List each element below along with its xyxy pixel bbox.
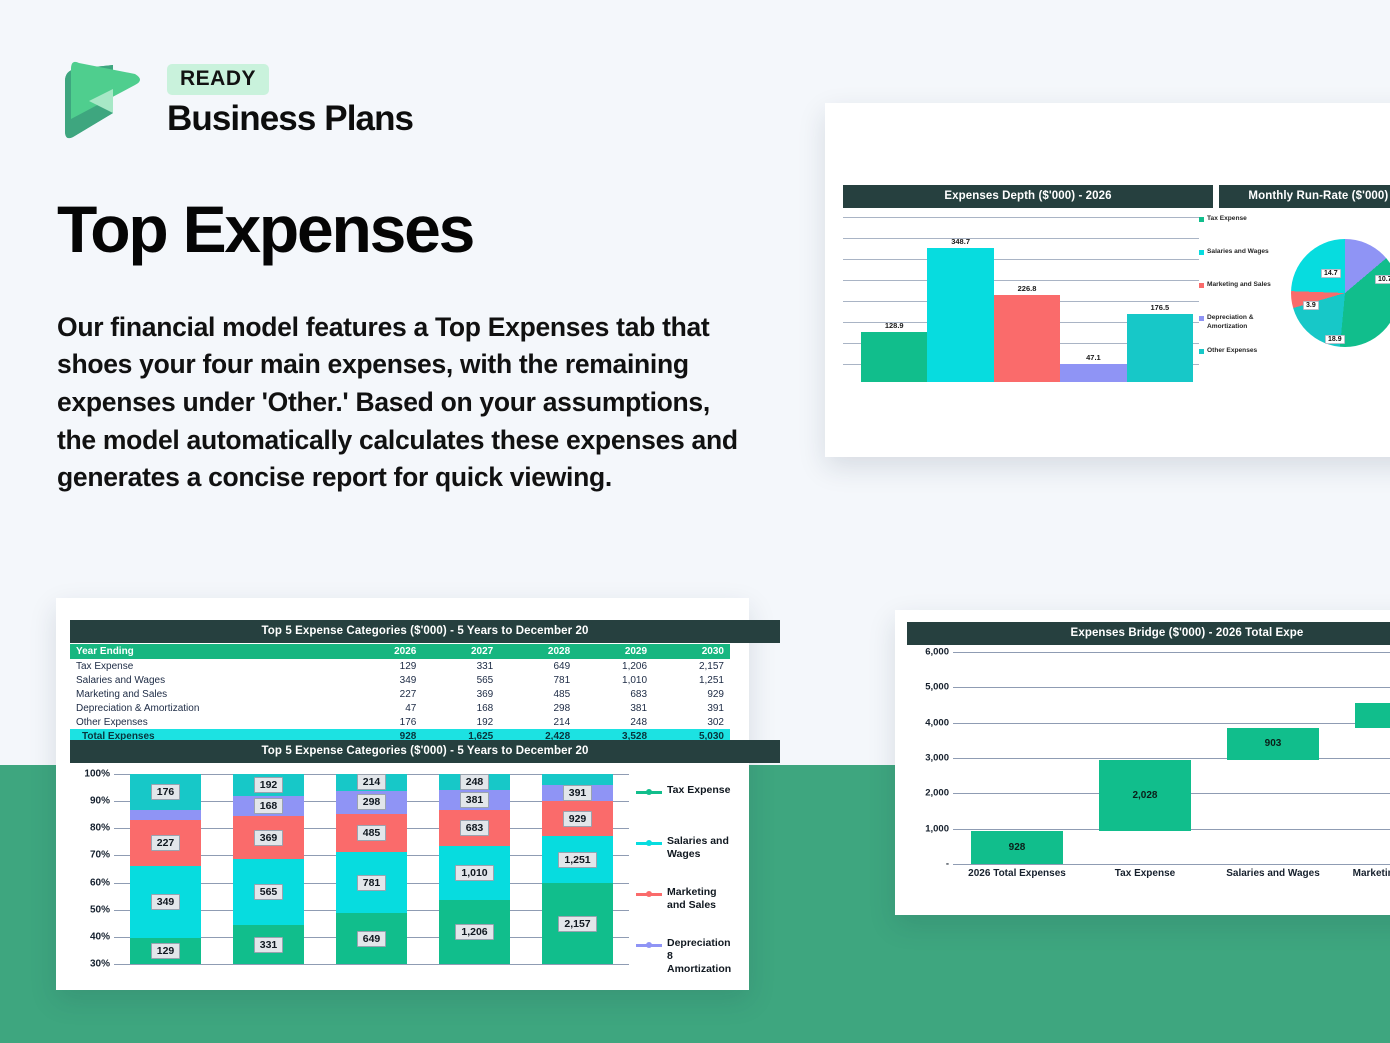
bar-fill: 47.1 — [1060, 364, 1126, 382]
brand-text: READY Business Plans — [167, 64, 413, 139]
bar-fill: 226.8 — [994, 295, 1060, 382]
legend-line-marker-icon — [636, 889, 662, 899]
segment-value-label: 227 — [151, 835, 181, 851]
stacked-segment: 192 — [233, 774, 304, 796]
bar-value-label: 128.9 — [861, 321, 927, 330]
axis-tick-label: 50% — [90, 904, 110, 915]
table-cell: 781 — [499, 673, 576, 687]
topright-charts: 128.9348.7226.847.1176.5 Tax ExpenseSala… — [843, 211, 1390, 386]
axis-tick-label: 100% — [84, 769, 110, 780]
legend-item: Tax Expense — [1199, 215, 1277, 248]
table-row: Marketing and Sales227369485683929 — [70, 687, 730, 701]
table-cell: 176 — [351, 715, 422, 729]
stacked-segment: 331 — [233, 925, 304, 964]
legend-label: Tax Expense — [1207, 215, 1247, 224]
legend-swatch-icon — [1199, 349, 1204, 354]
table-row: Salaries and Wages3495657811,0101,251 — [70, 673, 730, 687]
stacked-segment: 649 — [336, 913, 407, 964]
axis-tick-label: 6,000 — [925, 647, 949, 658]
legend-item: Depreciation & Amortization — [1199, 314, 1277, 347]
bar-value-label: 928 — [1009, 842, 1026, 853]
stacked-plot-area: 1762273491291921683695653312142984857816… — [114, 774, 629, 964]
legend-label: Depreciation & Amortization — [1207, 314, 1277, 332]
table-cell: 381 — [576, 701, 653, 715]
gridline — [114, 964, 629, 965]
stacked-segment — [130, 810, 201, 820]
bar-value-label: 903 — [1265, 738, 1282, 749]
bar-fill: 128.9 — [861, 332, 927, 382]
table-cell: 168 — [422, 701, 499, 715]
axis-tick-label: 70% — [90, 850, 110, 861]
segment-value-label: 176 — [151, 784, 181, 800]
table-cell: 302 — [653, 715, 730, 729]
table-cell: 298 — [499, 701, 576, 715]
stacked-bar-chart: 100%90%80%70%60%50%40%30% 17622734912919… — [70, 768, 735, 973]
bar-column: 226.8 — [994, 295, 1060, 382]
segment-value-label: 369 — [254, 830, 284, 846]
stacked-segment: 168 — [233, 796, 304, 816]
segment-value-label: 349 — [151, 894, 181, 910]
table-body: Tax Expense1293316491,2062,157Salaries a… — [70, 659, 730, 743]
stacked-y-axis: 100%90%80%70%60%50%40%30% — [70, 774, 110, 964]
bar-column: 348.7 — [927, 248, 993, 382]
table-col-header: 2028 — [499, 644, 576, 659]
table-header-row: Year Ending20262027202820292030 — [70, 644, 730, 659]
play-triangle-logo-icon — [57, 55, 149, 147]
stacked-segment: 565 — [233, 859, 304, 925]
top5-table-title: Top 5 Expense Categories ($'000) - 5 Yea… — [70, 620, 780, 643]
axis-tick-label: 80% — [90, 823, 110, 834]
segment-value-label: 298 — [357, 794, 387, 810]
brand-logo: READY Business Plans — [57, 55, 413, 147]
legend-line-marker-icon — [636, 940, 662, 950]
segment-value-label: 214 — [357, 774, 387, 790]
legend-line-marker-icon — [636, 787, 662, 797]
legend-swatch-icon — [1199, 316, 1204, 321]
table-row: Other Expenses176192214248302 — [70, 715, 730, 729]
stacked-column: 192168369565331 — [217, 774, 320, 964]
legend-item: Depreciation 8 Amortization — [636, 937, 736, 988]
legend-label: Salaries and Wages — [1207, 248, 1269, 257]
waterfall-plot-area: 9282,028903702 — [953, 652, 1390, 864]
table-row: Depreciation & Amortization4716829838139… — [70, 701, 730, 715]
stacked-column: 214298485781649 — [320, 774, 423, 964]
legend-label: Marketing and Sales — [1207, 281, 1271, 290]
legend-label: Salaries and Wages — [667, 835, 736, 861]
legend-label: Depreciation 8 Amortization — [667, 937, 736, 976]
table-row-label: Marketing and Sales — [70, 687, 351, 701]
segment-value-label: 649 — [357, 931, 387, 947]
stacked-segment: 349 — [130, 866, 201, 937]
expenses-depth-legend: Tax ExpenseSalaries and WagesMarketing a… — [1199, 211, 1277, 386]
stacked-column: 3919291,2512,157 — [526, 774, 629, 964]
legend-label: Marketing and Sales — [667, 886, 736, 912]
segment-value-label: 1,251 — [558, 852, 596, 868]
axis-category-label: Tax Expense — [1081, 868, 1209, 879]
legend-line-marker-icon — [636, 838, 662, 848]
stacked-chart-legend: Tax ExpenseSalaries and WagesMarketing a… — [636, 784, 736, 988]
bar-value-label: 2,028 — [1132, 790, 1157, 801]
waterfall-bar: 2,028 — [1099, 760, 1191, 832]
axis-tick-label: 5,000 — [925, 682, 949, 693]
table-cell: 1,206 — [576, 659, 653, 673]
legend-swatch-icon — [1199, 217, 1204, 222]
brand-name: Business Plans — [167, 99, 413, 139]
bar-value-label: 348.7 — [927, 237, 993, 246]
axis-tick-label: 1,000 — [925, 823, 949, 834]
segment-value-label: 485 — [357, 825, 387, 841]
stacked-columns: 1762273491291921683695653312142984857816… — [114, 774, 629, 964]
table-row: Tax Expense1293316491,2062,157 — [70, 659, 730, 673]
hero-description: Our financial model features a Top Expen… — [57, 309, 747, 497]
segment-value-label: 2,157 — [558, 916, 596, 932]
segment-value-label: 1,010 — [455, 865, 493, 881]
bar-column: 47.1 — [1060, 364, 1126, 382]
table-cell: 331 — [422, 659, 499, 673]
ready-badge: READY — [167, 64, 269, 95]
stacked-column: 176227349129 — [114, 774, 217, 964]
table-col-header: 2030 — [653, 644, 730, 659]
stacked-segment: 391 — [542, 785, 613, 801]
segment-value-label: 929 — [563, 811, 593, 827]
axis-tick-label: 40% — [90, 931, 110, 942]
waterfall-y-axis: 6,0005,0004,0003,0002,0001,000- — [907, 652, 949, 864]
topright-header-bars: Expenses Depth ($'000) - 2026 Monthly Ru… — [843, 185, 1390, 208]
axis-tick-label: 4,000 — [925, 717, 949, 728]
legend-label: Other Expenses — [1207, 347, 1257, 356]
pie-slice-label: 14.7 — [1321, 269, 1341, 278]
segment-value-label: 248 — [460, 774, 490, 790]
expenses-depth-card: Expenses Depth ($'000) - 2026 Monthly Ru… — [825, 103, 1390, 457]
segment-value-label: 683 — [460, 820, 490, 836]
table-cell: 485 — [499, 687, 576, 701]
waterfall-chart: 6,0005,0004,0003,0002,0001,000- 9282,028… — [907, 652, 1390, 902]
segment-value-label: 381 — [460, 792, 490, 808]
table-col-header: 2027 — [422, 644, 499, 659]
axis-tick-label: - — [946, 859, 949, 870]
stacked-segment: 129 — [130, 938, 201, 964]
table-col-header: Year Ending — [70, 644, 351, 659]
table-cell: 129 — [351, 659, 422, 673]
table-cell: 1,010 — [576, 673, 653, 687]
hero-section: Top Expenses Our financial model feature… — [57, 195, 757, 497]
axis-tick-label: 30% — [90, 959, 110, 970]
stacked-segment: 485 — [336, 814, 407, 852]
table-cell: 369 — [422, 687, 499, 701]
stacked-segment: 2,157 — [542, 883, 613, 964]
expenses-depth-title: Expenses Depth ($'000) - 2026 — [843, 185, 1213, 208]
table-cell: 214 — [499, 715, 576, 729]
table-cell: 929 — [653, 687, 730, 701]
expenses-bridge-card: Expenses Bridge ($'000) - 2026 Total Exp… — [895, 610, 1390, 915]
table-cell: 1,251 — [653, 673, 730, 687]
segment-value-label: 129 — [151, 943, 181, 959]
legend-item: Marketing and Sales — [1199, 281, 1277, 314]
table-row-label: Depreciation & Amortization — [70, 701, 351, 715]
waterfall-column: 903 — [1209, 652, 1337, 864]
stacked-segment: 381 — [439, 790, 510, 810]
segment-value-label: 781 — [357, 875, 387, 891]
axis-category-label: 2026 Total Expenses — [953, 868, 1081, 879]
table-cell: 192 — [422, 715, 499, 729]
axis-tick-label: 60% — [90, 877, 110, 888]
waterfall-column: 2,028 — [1081, 652, 1209, 864]
table-cell: 227 — [351, 687, 422, 701]
table-col-header: 2029 — [576, 644, 653, 659]
top5-expense-table: Year Ending20262027202820292030 Tax Expe… — [70, 644, 730, 743]
legend-label: Tax Expense — [667, 784, 730, 797]
legend-item: Marketing and Sales — [636, 886, 736, 937]
bar-value-label: 226.8 — [994, 284, 1060, 293]
table-cell: 565 — [422, 673, 499, 687]
segment-value-label: 565 — [254, 884, 284, 900]
table-cell: 649 — [499, 659, 576, 673]
table-col-header: 2026 — [351, 644, 422, 659]
legend-swatch-icon — [1199, 250, 1204, 255]
waterfall-bars: 9282,028903702 — [953, 652, 1390, 864]
table-cell: 683 — [576, 687, 653, 701]
axis-category-label: Marketing and Sales — [1337, 868, 1390, 879]
pie-circle — [1291, 239, 1390, 347]
table-row-label: Salaries and Wages — [70, 673, 351, 687]
gridline — [843, 217, 1199, 218]
table-row-label: Tax Expense — [70, 659, 351, 673]
legend-item: Tax Expense — [636, 784, 736, 835]
stacked-segment: 227 — [130, 820, 201, 866]
expenses-depth-bar-chart: 128.9348.7226.847.1176.5 — [843, 211, 1199, 386]
bar-column: 128.9 — [861, 332, 927, 382]
stacked-segment: 214 — [336, 774, 407, 791]
expenses-bridge-title: Expenses Bridge ($'000) - 2026 Total Exp… — [907, 622, 1390, 645]
legend-item: Other Expenses — [1199, 347, 1277, 380]
top5-expense-categories-card: Top 5 Expense Categories ($'000) - 5 Yea… — [56, 598, 749, 990]
bar-fill: 176.5 — [1127, 314, 1193, 382]
bar-chart-bars: 128.9348.7226.847.1176.5 — [861, 234, 1193, 382]
segment-value-label: 168 — [254, 798, 284, 814]
waterfall-column: 928 — [953, 652, 1081, 864]
pie-slice-label: 18.9 — [1325, 335, 1345, 344]
stacked-segment: 781 — [336, 852, 407, 913]
axis-category-label: Salaries and Wages — [1209, 868, 1337, 879]
legend-swatch-icon — [1199, 283, 1204, 288]
stacked-segment — [542, 774, 613, 785]
waterfall-bar: 903 — [1227, 728, 1319, 760]
axis-tick-label: 90% — [90, 796, 110, 807]
waterfall-bar: 702 — [1355, 703, 1390, 728]
stacked-segment: 369 — [233, 816, 304, 859]
monthly-run-rate-pie-chart: 10.714.73.918.9 — [1277, 211, 1390, 386]
segment-value-label: 1,206 — [455, 924, 493, 940]
table-row-label: Other Expenses — [70, 715, 351, 729]
table-cell: 2,157 — [653, 659, 730, 673]
table-cell: 349 — [351, 673, 422, 687]
segment-value-label: 391 — [563, 785, 593, 801]
bar-fill: 348.7 — [927, 248, 993, 382]
waterfall-column: 702 — [1337, 652, 1390, 864]
stacked-segment: 1,010 — [439, 846, 510, 900]
segment-value-label: 331 — [254, 937, 284, 953]
table-cell: 391 — [653, 701, 730, 715]
stacked-column: 2483816831,0101,206 — [423, 774, 526, 964]
stacked-segment: 1,251 — [542, 836, 613, 883]
waterfall-x-labels: 2026 Total ExpensesTax ExpenseSalaries a… — [953, 868, 1390, 879]
stacked-segment: 929 — [542, 801, 613, 836]
bar-value-label: 176.5 — [1127, 303, 1193, 312]
axis-tick-label: 2,000 — [925, 788, 949, 799]
axis-tick-label: 3,000 — [925, 753, 949, 764]
table-cell: 47 — [351, 701, 422, 715]
stacked-segment: 248 — [439, 774, 510, 790]
table-cell: 248 — [576, 715, 653, 729]
legend-item: Salaries and Wages — [636, 835, 736, 886]
gridline — [953, 864, 1390, 865]
top5-stacked-title: Top 5 Expense Categories ($'000) - 5 Yea… — [70, 740, 780, 763]
page-title: Top Expenses — [57, 195, 757, 264]
stacked-segment: 298 — [336, 791, 407, 814]
pie-slice-label: 3.9 — [1303, 301, 1319, 310]
stacked-segment: 1,206 — [439, 900, 510, 964]
waterfall-bar: 928 — [971, 831, 1063, 864]
stacked-segment: 176 — [130, 774, 201, 810]
bar-column: 176.5 — [1127, 314, 1193, 382]
bar-value-label: 47.1 — [1060, 353, 1126, 362]
legend-item: Salaries and Wages — [1199, 248, 1277, 281]
stacked-segment: 683 — [439, 810, 510, 846]
pie-slice-label: 10.7 — [1375, 275, 1390, 284]
segment-value-label: 192 — [254, 777, 284, 793]
monthly-run-rate-title: Monthly Run-Rate ($'000) - — [1219, 185, 1390, 208]
